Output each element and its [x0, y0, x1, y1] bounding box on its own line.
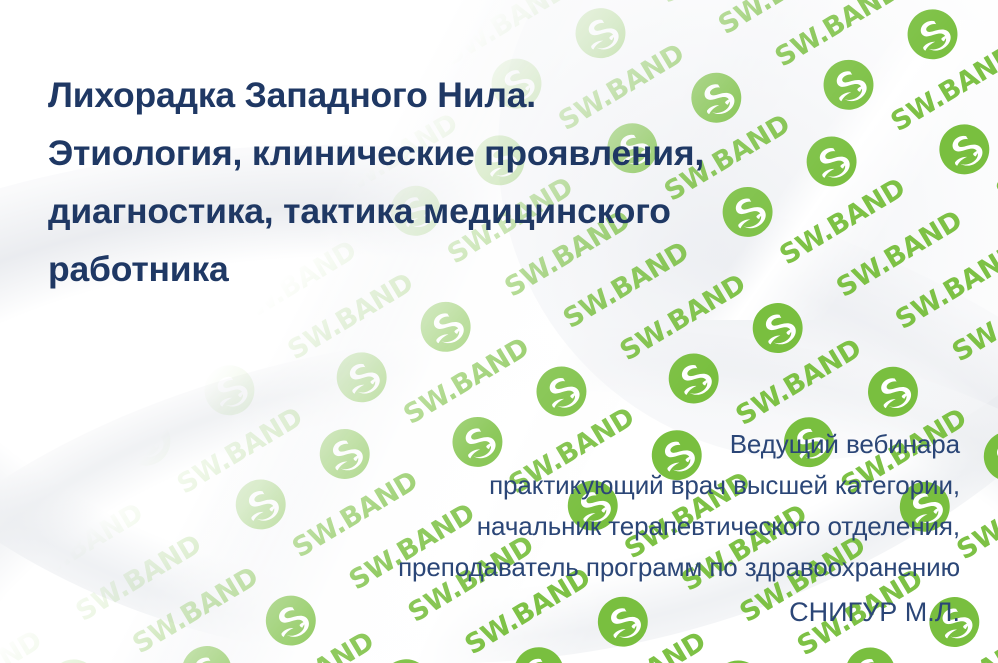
presenter-name: СНИГУР М.Л. — [789, 592, 960, 633]
slide-content: Лихорадка Западного Нила. Этиология, кли… — [0, 0, 998, 663]
presenter-credentials: Ведущий вебинара практикующий врач высше… — [200, 424, 960, 588]
presentation-slide: SW.BANDSW.BANDSW.BANDSW.BANDSW.BANDSW.BA… — [0, 0, 998, 663]
slide-title: Лихорадка Западного Нила. Этиология, кли… — [48, 66, 948, 298]
